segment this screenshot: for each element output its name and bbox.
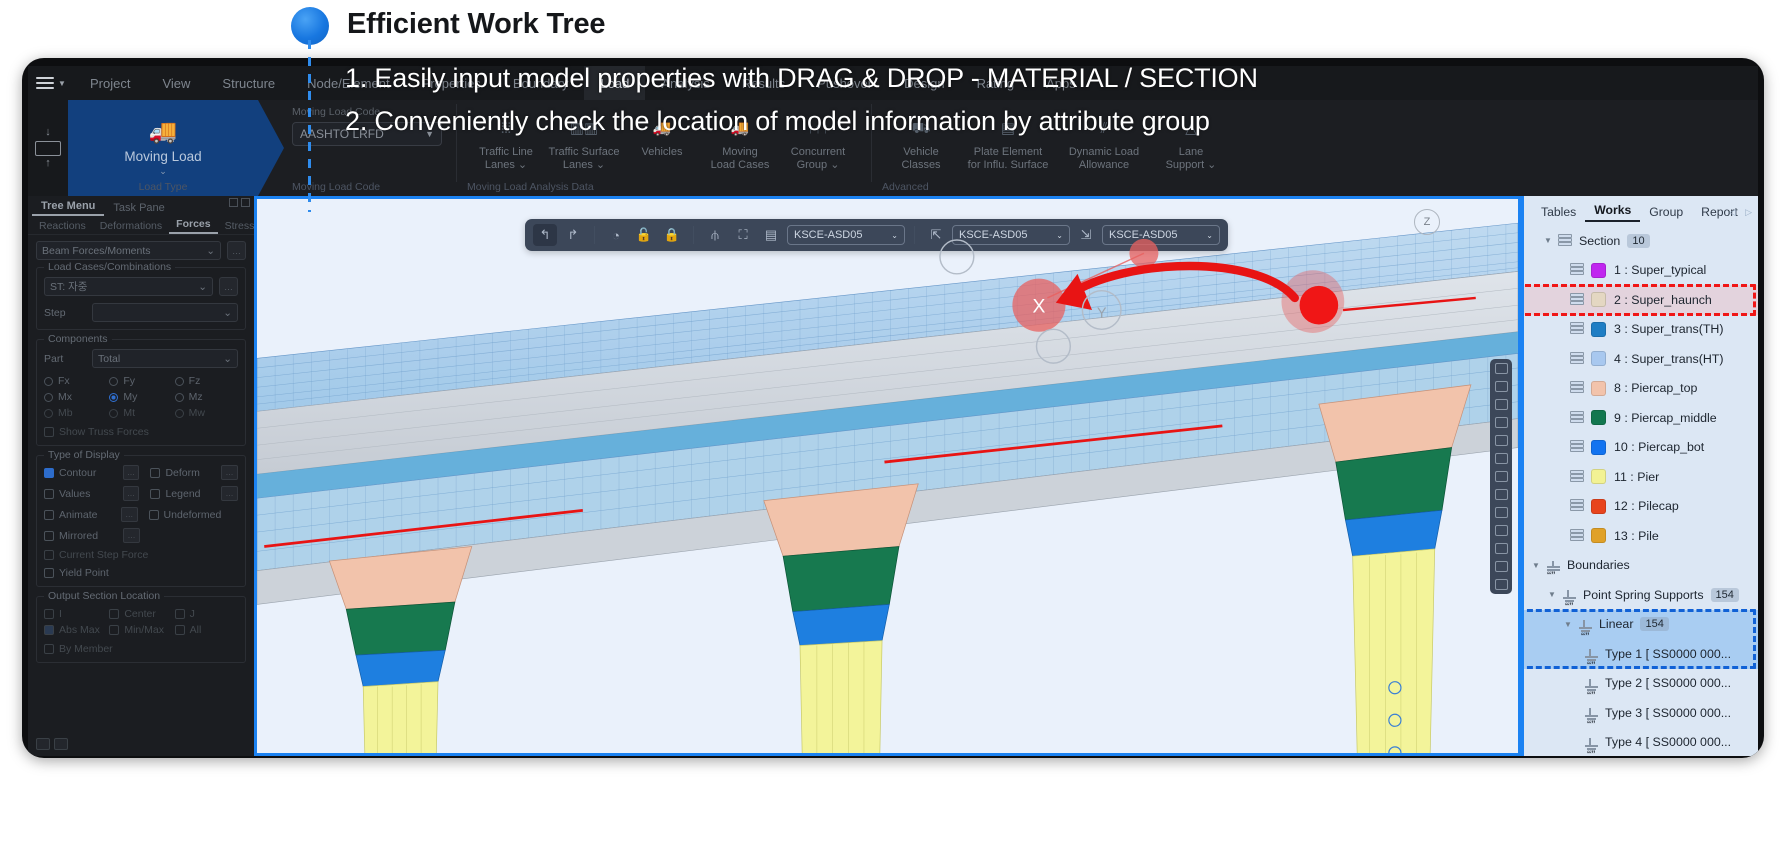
checkbox-mirrored[interactable]: Mirrored	[44, 530, 118, 542]
label: 3 : Super_trans(TH)	[1614, 322, 1724, 336]
tree-item-super-haunch[interactable]: 2 : Super_haunch	[1524, 285, 1758, 315]
measure-icon[interactable]	[1495, 471, 1508, 482]
label: Center	[124, 608, 156, 620]
label: Undeformed	[164, 509, 222, 521]
copy-icon[interactable]	[1495, 399, 1508, 410]
tab-task-pane[interactable]: Task Pane	[104, 202, 173, 216]
stack-icon	[1570, 529, 1585, 543]
load-case-options-button[interactable]: …	[219, 277, 238, 296]
output-section-options: I Center J Abs Max Min/Max All	[44, 608, 238, 636]
radio-fy[interactable]: Fy	[109, 375, 172, 387]
app-screen: ▼ Project View Structure Node/Element Pr…	[28, 66, 1758, 756]
checkbox-contour[interactable]: Contour	[44, 467, 118, 479]
tab-forces[interactable]: Forces	[169, 218, 217, 234]
results-sub-tabs: Reactions Deformations Forces Stress	[28, 216, 254, 235]
pointer-icon[interactable]: ⇲	[1074, 224, 1098, 246]
type-of-display-fieldset: Type of Display Contour … Deform … Value…	[36, 455, 246, 587]
tab-stress[interactable]: Stress	[218, 220, 254, 234]
color-swatch	[1591, 440, 1606, 455]
color-swatch	[1591, 410, 1606, 425]
chevron-right-icon[interactable]: ▷	[1745, 207, 1752, 218]
stack-icon	[1570, 352, 1585, 366]
count-badge: 154	[1711, 588, 1739, 602]
chevron-down-icon: ⌄	[206, 245, 215, 257]
tab-deformations[interactable]: Deformations	[93, 220, 169, 234]
tree-list: ▼ Section 10 1 : Super_typical	[1524, 222, 1758, 756]
legend-options-button[interactable]: …	[221, 486, 238, 501]
tree-item-type-3[interactable]: Type 3 [ SS0000 000...	[1524, 698, 1758, 728]
label: Deform	[165, 467, 199, 479]
label: Mt	[123, 407, 135, 419]
stack-icon	[1570, 411, 1585, 425]
label: Yield Point	[59, 567, 109, 579]
color-swatch	[1591, 499, 1606, 514]
chevron-down-icon: ⌄	[1056, 231, 1063, 240]
bridge-model-3d	[257, 199, 1518, 756]
expand-toggle-icon[interactable]: ▼	[1544, 236, 1558, 245]
checkbox-i[interactable]: I	[44, 608, 107, 620]
label: Type 2 [ SS0000 000...	[1605, 676, 1731, 690]
checkbox-j[interactable]: J	[175, 608, 238, 620]
chevron-left-icon[interactable]: ◁	[1729, 207, 1736, 218]
moving-load-analysis-data-footer: Moving Load Analysis Data	[467, 181, 594, 193]
mirrored-options-button[interactable]: …	[123, 528, 140, 543]
advanced-footer: Advanced	[882, 181, 929, 193]
design-code-select-2[interactable]: KSCE-ASD05 ⌄	[952, 225, 1070, 245]
table-icon[interactable]: ▤	[759, 224, 783, 246]
main-body: Tree Menu Task Pane Reactions Deformatio…	[28, 196, 1758, 756]
label: Mw	[189, 407, 205, 419]
radio-mb[interactable]: Mb	[44, 407, 107, 419]
label: Legend	[165, 488, 200, 500]
step-select[interactable]: ⌄	[92, 303, 238, 322]
left-panel-tabs: Tree Menu Task Pane	[28, 196, 254, 216]
label: Boundaries	[1567, 558, 1630, 572]
expand-toggle-icon[interactable]: ▼	[1548, 590, 1562, 599]
panel-pin-controls[interactable]	[229, 198, 250, 207]
display-row-4: Mirrored …	[44, 528, 238, 543]
tree-item-piercap-middle[interactable]: 9 : Piercap_middle	[1524, 403, 1758, 433]
label: 10 : Piercap_bot	[1614, 440, 1704, 454]
color-swatch	[1591, 381, 1606, 396]
banner-leader-line	[308, 40, 311, 212]
app-window: ▼ Project View Structure Node/Element Pr…	[22, 58, 1764, 758]
label: 13 : Pile	[1614, 529, 1659, 543]
stack-icon	[1570, 470, 1585, 484]
label: Vehicles	[642, 146, 683, 158]
radio-mx[interactable]: Mx	[44, 391, 107, 403]
tree-item-super-trans-th[interactable]: 3 : Super_trans(TH)	[1524, 315, 1758, 345]
display-row-3: Animate … Undeformed	[44, 507, 238, 522]
label: Dynamic LoadAllowance	[1069, 146, 1139, 171]
tab-reactions[interactable]: Reactions	[32, 220, 93, 234]
menu-item-project[interactable]: Project	[74, 76, 146, 91]
rotate-icon[interactable]: ◔	[604, 224, 628, 246]
color-swatch	[1591, 528, 1606, 543]
tab-works[interactable]: Works	[1585, 203, 1640, 222]
viewport-toolbar[interactable]: ↰ ↱ ◔ 🔓 🔒 ⫛ ⛶ ▤ KSCE-ASD05 ⌄	[525, 219, 1228, 251]
menu-item-view[interactable]: View	[146, 76, 206, 91]
chevron-down-icon: ▼	[58, 79, 66, 88]
output-section-location-fieldset: Output Section Location I Center J Abs M…	[36, 596, 246, 663]
label: Fz	[189, 375, 201, 387]
tree-tabs: Tables Works Group Report ◁ ▷	[1524, 196, 1758, 222]
table-view-icon[interactable]	[1495, 525, 1508, 536]
label: Animate	[59, 509, 98, 521]
values-options-button[interactable]: …	[123, 486, 140, 501]
components-legend: Components	[44, 333, 112, 345]
tree-node-section[interactable]: ▼ Section 10	[1524, 226, 1758, 256]
support-icon	[1584, 705, 1599, 720]
tree-item-super-typical[interactable]: 1 : Super_typical	[1524, 256, 1758, 286]
main-menu-button[interactable]: ▼	[28, 74, 74, 92]
viewport-side-toolbar[interactable]	[1490, 359, 1512, 594]
close-button[interactable]	[54, 738, 68, 750]
label: Mirrored	[59, 530, 98, 542]
radio-mw[interactable]: Mw	[175, 407, 238, 419]
support-icon	[1584, 676, 1599, 691]
boundary-icon	[1546, 558, 1561, 573]
tree-item-piercap-top[interactable]: 8 : Piercap_top	[1524, 374, 1758, 404]
label: Contour	[59, 467, 96, 479]
checkbox-all[interactable]: All	[175, 624, 238, 636]
grid-icon[interactable]	[1495, 507, 1508, 518]
chevron-down-icon: ⌄	[198, 281, 207, 293]
label: Point Spring Supports	[1583, 588, 1704, 602]
radio-my[interactable]: My	[109, 391, 172, 403]
label: I	[59, 608, 62, 620]
chevron-down-icon: ⌄	[223, 353, 232, 365]
callout-line-2: 2. Conveniently check the location of mo…	[345, 106, 1210, 137]
menu-item-structure[interactable]: Structure	[206, 76, 291, 91]
display-legend: Type of Display	[44, 449, 124, 461]
render-icon[interactable]	[1495, 543, 1508, 554]
value: KSCE-ASD05	[959, 229, 1027, 241]
label: Fy	[123, 375, 135, 387]
deform-options-button[interactable]: …	[221, 465, 238, 480]
tree-item-type-2[interactable]: Type 2 [ SS0000 000...	[1524, 669, 1758, 699]
label: By Member	[59, 643, 113, 655]
radio-fz[interactable]: Fz	[175, 375, 238, 387]
part-label: Part	[44, 353, 86, 365]
support-icon	[1584, 735, 1599, 750]
toolbar-divider	[914, 226, 915, 244]
stack-icon	[1570, 322, 1585, 336]
load-type-footer: Load Type	[139, 181, 188, 193]
checkbox-current-step-force[interactable]: Current Step Force	[44, 549, 238, 561]
align-icon[interactable]: ⫛	[703, 224, 727, 246]
pan-icon[interactable]	[1495, 435, 1508, 446]
checkbox-deform[interactable]: Deform	[150, 467, 216, 479]
label: Show Truss Forces	[59, 426, 149, 438]
display-row-2: Values … Legend …	[44, 486, 238, 501]
checkbox-center[interactable]: Center	[109, 608, 172, 620]
checkbox-by-member[interactable]: By Member	[44, 643, 238, 655]
checkbox-legend[interactable]: Legend	[150, 488, 216, 500]
label: 12 : Pilecap	[1614, 499, 1679, 513]
tree-item-pier[interactable]: 11 : Pier	[1524, 462, 1758, 492]
label: Plate Elementfor Influ. Surface	[968, 146, 1049, 171]
value: Beam Forces/Moments	[42, 245, 151, 257]
label: Mx	[58, 391, 72, 403]
label: All	[190, 624, 202, 636]
design-code-select-3[interactable]: KSCE-ASD05 ⌄	[1102, 225, 1220, 245]
checkbox-show-truss-forces[interactable]: Show Truss Forces	[44, 426, 238, 438]
label: J	[190, 608, 195, 620]
model-viewport[interactable]: ↰ ↱ ◔ 🔓 🔒 ⫛ ⛶ ▤ KSCE-ASD05 ⌄	[254, 196, 1521, 756]
tree-item-type-4[interactable]: Type 4 [ SS0000 000...	[1524, 728, 1758, 757]
group-highlight-outline	[1521, 609, 1756, 669]
label: Fx	[58, 375, 70, 387]
part-select[interactable]: Total ⌄	[92, 349, 238, 368]
checkbox-animate[interactable]: Animate	[44, 509, 116, 521]
toolbar-divider	[594, 226, 595, 244]
tree-node-point-spring-supports[interactable]: ▼ Point Spring Supports 154	[1524, 580, 1758, 610]
label: Values	[59, 488, 90, 500]
value: KSCE-ASD05	[794, 229, 862, 241]
ribbon-active-group-moving-load[interactable]: 🚚 Moving Load ⌄ Load Type	[68, 100, 258, 196]
label: 1 : Super_typical	[1614, 263, 1706, 277]
tab-tree-menu[interactable]: Tree Menu	[32, 200, 104, 216]
value: KSCE-ASD05	[1109, 229, 1177, 241]
rotate-view-icon[interactable]	[1495, 453, 1508, 464]
snap-node-icon[interactable]	[1495, 363, 1508, 374]
checkbox-min-max[interactable]: Min/Max	[109, 624, 172, 636]
axis-indicator-z: Z	[1414, 209, 1440, 235]
page-title: Efficient Work Tree	[347, 8, 605, 41]
label: Traffic SurfaceLanes ⌄	[549, 146, 620, 171]
value: Total	[98, 353, 120, 365]
pointer-icon[interactable]: ⇱	[924, 224, 948, 246]
moving-load-label: Moving Load	[124, 149, 201, 164]
step-row: Step ⌄	[44, 303, 238, 322]
label: Mz	[189, 391, 203, 403]
stack-icon	[1570, 499, 1585, 513]
radio-fx[interactable]: Fx	[44, 375, 107, 387]
tree-item-super-trans-ht[interactable]: 4 : Super_trans(HT)	[1524, 344, 1758, 374]
label: Section	[1579, 234, 1620, 248]
left-panel-footer-buttons[interactable]	[36, 738, 68, 750]
checkbox-undeformed[interactable]: Undeformed	[149, 509, 238, 521]
animate-options-button[interactable]: …	[121, 507, 138, 522]
contour-options-button[interactable]: …	[123, 465, 140, 480]
undo-icon[interactable]: ↰	[533, 224, 557, 246]
design-code-select-1[interactable]: KSCE-ASD05 ⌄	[787, 225, 905, 245]
works-tree-panel: Tables Works Group Report ◁ ▷ ▼	[1521, 196, 1758, 756]
stack-icon	[1570, 440, 1585, 454]
tab-tables[interactable]: Tables	[1532, 205, 1585, 222]
chevron-down-icon: ⌄	[1206, 231, 1213, 240]
label: Type 4 [ SS0000 000...	[1605, 735, 1731, 749]
callout-line-1: 1. Easily input model properties with DR…	[345, 63, 1258, 94]
select-icon[interactable]	[1495, 381, 1508, 392]
label: Type 3 [ SS0000 000...	[1605, 706, 1731, 720]
load-case-row: ST: 자중 ⌄ …	[44, 277, 238, 296]
components-fieldset: Components Part Total ⌄ Fx Fy	[36, 339, 246, 446]
checkbox-values[interactable]: Values	[44, 488, 118, 500]
component-radio-group: Fx Fy Fz Mx My Mz Mb Mt Mw	[44, 375, 238, 419]
apply-button[interactable]	[36, 738, 50, 750]
part-row: Part Total ⌄	[44, 349, 238, 368]
moving-load-code-footer: Moving Load Code	[292, 181, 380, 193]
redo-icon[interactable]: ↱	[561, 224, 585, 246]
color-swatch	[1591, 351, 1606, 366]
result-type-select[interactable]: Beam Forces/Moments ⌄	[36, 241, 221, 260]
label: Traffic LineLanes ⌄	[479, 146, 533, 171]
unlock-icon[interactable]: 🔓	[632, 224, 656, 246]
chevron-down-icon: ⌄	[891, 231, 898, 240]
load-case-select[interactable]: ST: 자중 ⌄	[44, 277, 213, 296]
tree-item-pilecap[interactable]: 12 : Pilecap	[1524, 492, 1758, 522]
label: MovingLoad Cases	[711, 146, 770, 171]
iso-view-icon[interactable]	[1495, 489, 1508, 500]
output-section-legend: Output Section Location	[44, 590, 164, 602]
fit-icon[interactable]	[1495, 579, 1508, 590]
label: Min/Max	[124, 624, 164, 636]
support-icon	[1584, 646, 1599, 661]
label: 8 : Piercap_top	[1614, 381, 1697, 395]
shrink-icon[interactable]	[1495, 561, 1508, 572]
tab-group[interactable]: Group	[1640, 205, 1692, 222]
label: 4 : Super_trans(HT)	[1614, 352, 1724, 366]
tree-item-piercap-bot[interactable]: 10 : Piercap_bot	[1524, 433, 1758, 463]
expand-toggle-icon[interactable]: ▼	[1532, 561, 1546, 570]
count-badge: 10	[1627, 234, 1649, 248]
mesh-icon[interactable]: ⛶	[731, 224, 755, 246]
stack-icon	[1570, 263, 1585, 277]
lock-icon[interactable]: 🔒	[660, 224, 684, 246]
color-swatch	[1591, 263, 1606, 278]
load-cases-fieldset: Load Cases/Combinations ST: 자중 ⌄ … Step	[36, 267, 246, 330]
value: ST: 자중	[50, 279, 87, 294]
tab-nav-controls[interactable]: ◁ ▷	[1729, 207, 1752, 218]
load-cases-legend: Load Cases/Combinations	[44, 261, 175, 273]
checkbox-yield-point[interactable]: Yield Point	[44, 567, 238, 579]
label: Current Step Force	[59, 549, 148, 561]
label: LaneSupport ⌄	[1166, 146, 1217, 171]
label: 9 : Piercap_middle	[1614, 411, 1717, 425]
truck-icon: 🚚	[149, 120, 178, 143]
label: VehicleClasses	[901, 146, 940, 171]
stack-icon	[1570, 381, 1585, 395]
label: 11 : Pier	[1614, 470, 1659, 484]
radio-mz[interactable]: Mz	[175, 391, 238, 403]
radio-mt[interactable]: Mt	[109, 407, 172, 419]
collapse-arrows-icon: ↓↑	[35, 127, 61, 169]
checkbox-abs-max[interactable]: Abs Max	[44, 624, 107, 636]
screenshot-root: Efficient Work Tree ▼ Project View Struc…	[0, 0, 1780, 860]
support-icon	[1562, 587, 1577, 602]
tree-item-pile[interactable]: 13 : Pile	[1524, 521, 1758, 551]
step-label: Step	[44, 307, 86, 319]
display-row-1: Contour … Deform …	[44, 465, 238, 480]
label: Abs Max	[59, 624, 100, 636]
toolbar-divider	[693, 226, 694, 244]
tree-node-linear[interactable]: ▼ Linear 154	[1524, 610, 1758, 640]
left-panel: Tree Menu Task Pane Reactions Deformatio…	[28, 196, 254, 756]
chevron-down-icon: ⌄	[223, 307, 232, 319]
label: ConcurrentGroup ⌄	[791, 146, 845, 171]
stack-icon	[1558, 234, 1573, 248]
color-swatch	[1591, 322, 1606, 337]
color-swatch	[1591, 469, 1606, 484]
result-type-options-button[interactable]: …	[227, 241, 246, 260]
label: My	[123, 391, 137, 403]
result-type-row: Beam Forces/Moments ⌄ …	[36, 241, 246, 260]
tree-node-boundaries[interactable]: ▼ Boundaries	[1524, 551, 1758, 581]
chevron-down-icon[interactable]: ⌄	[159, 166, 167, 177]
left-panel-body: Beam Forces/Moments ⌄ … Load Cases/Combi…	[28, 235, 254, 678]
zoom-icon[interactable]	[1495, 417, 1508, 428]
label: Mb	[58, 407, 73, 419]
ribbon-collapse-control[interactable]: ↓↑	[28, 100, 68, 196]
hamburger-icon	[36, 74, 54, 92]
drop-highlight-outline	[1521, 284, 1756, 316]
